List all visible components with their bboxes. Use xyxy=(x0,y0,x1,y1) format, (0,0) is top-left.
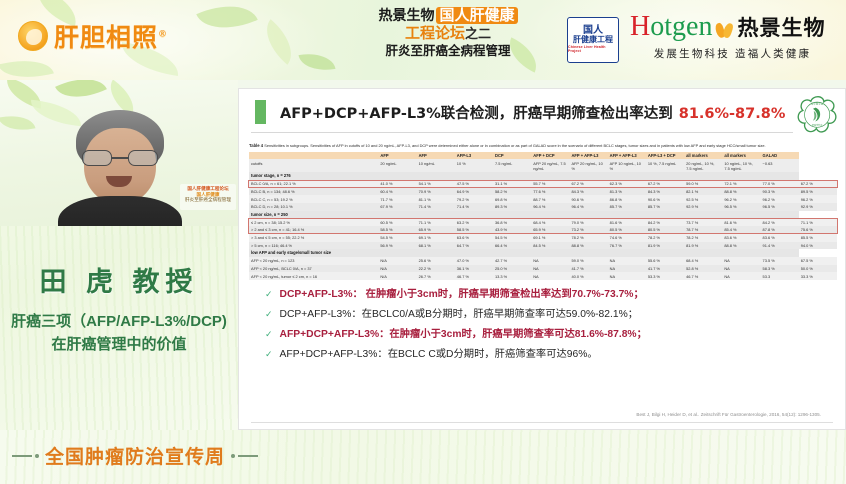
bullet-text: DCP+AFP-L3%：在BCLC0/A或B分期时，肝癌早期筛查率可达59.0%… xyxy=(280,308,638,321)
bottom-banner-label: 全国肿瘤防治宣传周 xyxy=(45,442,225,469)
table-cell: 96.2 % xyxy=(761,195,799,203)
hotgen-slogan: 发展生物科技 造福人类健康 xyxy=(630,46,835,61)
forum-title-line1: 热景生物国人肝健康 xyxy=(348,8,548,24)
table-row-label: BCLC D, n = 28; 10.1 % xyxy=(249,203,378,211)
table-cell: 68.1 % xyxy=(417,242,455,250)
speaker-topic: 肝癌三项（AFP/AFP-L3%/DCP) 在肝癌管理中的价值 xyxy=(0,311,238,356)
table-cell: 10 %, 7.5 ng/mL xyxy=(646,159,684,172)
bullet-text-normal: 时，肝癌早期筛查率可达 xyxy=(462,329,575,340)
table-cell: 81.9 % xyxy=(646,242,684,250)
table-cell: 58.5 % xyxy=(378,226,416,234)
speaker-info-card: 田 虎 教授 肝癌三项（AFP/AFP-L3%/DCP) 在肝癌管理中的价值 xyxy=(0,226,238,430)
table-cell: 10 % xyxy=(455,159,493,172)
dash-bar xyxy=(238,455,258,457)
forum-title-line3: 肝炎至肝癌全病程管理 xyxy=(348,45,548,59)
table-cell: 77.0 % xyxy=(761,180,799,188)
table-cell: 81.9 % xyxy=(684,242,722,250)
video-corner-watermark: 国人肝健康工程论坛 国人肝健康 肝炎至肝癌全病程管理 xyxy=(180,184,236,210)
table-cell: 84.2 % xyxy=(646,219,684,227)
table-cell: 78.2 % xyxy=(646,234,684,242)
table-row-label: BCLC 0/A, n = 61; 22.1 % xyxy=(249,180,378,188)
table-column-header: AFP xyxy=(378,152,416,160)
butterfly-icon xyxy=(716,22,732,39)
table-column-header: AFP + DCP xyxy=(531,152,569,160)
table-cell: 64.7 % xyxy=(455,242,493,250)
table-column-header: all markers xyxy=(722,152,760,160)
forum-title-highlight: 国人肝健康 xyxy=(436,7,517,24)
table-cell: 67.2 % xyxy=(799,180,837,188)
glasses-lens-left xyxy=(82,150,112,166)
table-cell: 41.7 % xyxy=(646,265,684,273)
top-banner: 肝胆相照® 热景生物国人肝健康 工程论坛之二 肝炎至肝癌全病程管理 国人 肝健康… xyxy=(0,0,846,80)
check-icon: ✓ xyxy=(265,310,273,319)
table-cell: 72.1 % xyxy=(722,180,760,188)
liver-seal-icon xyxy=(18,21,48,51)
table-row: BCLC C, n = 53; 19.2 %71.7 %81.1 %79.2 %… xyxy=(249,195,837,203)
table-caption: Table 4 Sensitivities in subgroups. Sens… xyxy=(249,143,837,150)
bullet-text: AFP+DCP+AFP-L3%：在肿瘤小于3cm时，肝癌早期筛查率可达81.6%… xyxy=(280,328,647,341)
table-cell: 78.7 % xyxy=(684,226,722,234)
leaf-decoration xyxy=(0,111,35,136)
table-cell: 79.0 % xyxy=(569,219,607,227)
table-cell: 40.0 % xyxy=(569,272,607,280)
portrait-face xyxy=(84,128,156,204)
check-icon: ✓ xyxy=(265,330,273,339)
table-row: BCLC D, n = 28; 10.1 %67.9 %71.4 %71.4 %… xyxy=(249,203,837,211)
table-cell: 79.2 % xyxy=(455,195,493,203)
table-cell: 36.8 % xyxy=(493,219,531,227)
table-cell: 94.0 % xyxy=(799,242,837,250)
svg-text:中华医学会: 中华医学会 xyxy=(811,102,824,106)
table-cell: 46.7 % xyxy=(455,272,493,280)
table-row: AFP < 20 ng/mL, BCLC 0/A, n = 37N/A22.2 … xyxy=(249,265,837,273)
table-cell: 67.2 % xyxy=(569,180,607,188)
table-row-label: ≤ 2 cm, n = 38; 15.2 % xyxy=(249,219,378,227)
bullet-text-normal: ： 在肿瘤 xyxy=(353,289,397,300)
table-cell: 77.6 % xyxy=(531,188,569,196)
table-cell: 88.8 % xyxy=(722,242,760,250)
portrait-body xyxy=(58,196,182,226)
table-cell: 47.0 % xyxy=(455,257,493,265)
table-section-label: tumor stage, n = 276 xyxy=(249,172,799,180)
table-cell: 84.3 % xyxy=(646,188,684,196)
forum-title-block: 热景生物国人肝健康 工程论坛之二 肝炎至肝癌全病程管理 xyxy=(348,8,548,59)
watermark-line1: 国人肝健康工程论坛 xyxy=(182,186,234,192)
glasses-icon xyxy=(82,150,158,166)
table-row-label: > 2 and ≤ 3 cm, n = 41; 16.4 % xyxy=(249,226,378,234)
table-cell: 33.3 % xyxy=(799,272,837,280)
table-head: AFPAFPAFP-L3DCPAFP + DCPAFP + AFP-L3AFP … xyxy=(249,152,837,160)
table-row: > 2 and ≤ 3 cm, n = 41; 16.4 %58.5 %65.9… xyxy=(249,226,837,234)
bullet-text-strong: 81.6%-87.8% xyxy=(575,329,637,340)
table-cell: 96.4 % xyxy=(531,203,569,211)
table-cell: 70.9 % xyxy=(417,188,455,196)
table-cell: 81.3 % xyxy=(608,188,646,196)
table-cell: 73.2 % xyxy=(569,226,607,234)
check-icon: ✓ xyxy=(265,350,273,359)
leaf-decoration xyxy=(55,80,107,109)
table-cell: NA xyxy=(608,257,646,265)
table-column-header xyxy=(249,152,378,160)
leaf-decoration xyxy=(255,19,303,64)
table-section-label: low AFP and early stage/small tumor size xyxy=(249,249,799,257)
table-cell: 71.7 % xyxy=(378,195,416,203)
table-cell: 88.7 % xyxy=(531,195,569,203)
bottom-banner-inner: 全国肿瘤防治宣传周 xyxy=(12,442,258,469)
table-cell: 92.5 % xyxy=(684,195,722,203)
table-cell: NA xyxy=(531,257,569,265)
table-cell: 54.1 % xyxy=(417,180,455,188)
table-cell: 71.4 % xyxy=(417,203,455,211)
table-column-header: AFP-L3 xyxy=(455,152,493,160)
table-cell: 88.8 % xyxy=(569,242,607,250)
citation-text: Best J, Bilgi H, Heider D, et al.. Zeits… xyxy=(239,412,835,417)
table-column-header: GALAD xyxy=(761,152,799,160)
hotgen-wordmark: Hotgen xyxy=(630,13,712,41)
table-cell: 82.1 % xyxy=(684,188,722,196)
table-cell: AFP 20 ng/mL, 10 % xyxy=(569,159,607,172)
leaf-decoration xyxy=(196,0,258,42)
table-cell: 74.6 % xyxy=(608,234,646,242)
glasses-lens-right xyxy=(128,150,158,166)
institution-seal-icon: 中华医学会 肝病学分会 xyxy=(797,95,839,137)
table-cell: 67.2 % xyxy=(646,180,684,188)
table-row-label: > 3 and ≤ 5 cm, n = 55; 22.2 % xyxy=(249,234,378,242)
table-cell: cutoffs xyxy=(249,159,378,172)
table-header-row: AFPAFPAFP-L3DCPAFP + DCPAFP + AFP-L3AFP … xyxy=(249,152,837,160)
hotgen-wordmark-row: Hotgen 热景生物 xyxy=(630,12,835,42)
table-row: BCLC 0/A, n = 61; 22.1 %41.0 %54.1 %47.5… xyxy=(249,180,837,188)
table-body: cutoffs20 ng/mL10 ng/mL10 %7.5 ng/mLAFP … xyxy=(249,159,837,280)
table-cell: 96.2 % xyxy=(722,195,760,203)
table-cell: 54.5 % xyxy=(378,234,416,242)
table-cell: 31.1 % xyxy=(493,180,531,188)
bullet-text: DCP+AFP-L3%： 在肿瘤小于3cm时，肝癌早期筛查检出率达到70.7%-… xyxy=(280,288,644,301)
table-cell: 64.9 % xyxy=(455,188,493,196)
table-cell: AFP 10 ng/mL, 10 % xyxy=(608,159,646,172)
table-cell: 69.1 % xyxy=(531,234,569,242)
table-cell: 96.5 % xyxy=(761,203,799,211)
speaker-panel: 国人肝健康工程论坛 国人肝健康 肝炎至肝癌全病程管理 田 虎 教授 肝癌三项（A… xyxy=(0,80,238,430)
table-cell: 78.2 % xyxy=(684,234,722,242)
table-cell: 41.0 % xyxy=(378,180,416,188)
brand-logo-gandanxiangzhao: 肝胆相照® xyxy=(18,18,168,54)
table-cell: 67.5 % xyxy=(799,257,837,265)
table-caption-text: Sensitivities in subgroups. Sensitivitie… xyxy=(264,143,765,148)
slide-title: AFP+DCP+AFP-L3%联合检测，肝癌早期筛查检出率达到81.6%-87.… xyxy=(280,102,785,123)
table-cell: 75.6 % xyxy=(799,226,837,234)
brand-left-label: 肝胆相照® xyxy=(54,18,168,54)
header-divider xyxy=(251,132,793,133)
table-cell: 63.2 % xyxy=(455,219,493,227)
presentation-slide[interactable]: AFP+DCP+AFP-L3%联合检测，肝癌早期筛查检出率达到81.6%-87.… xyxy=(238,88,846,430)
watermark-line3: 肝炎至肝癌全病程管理 xyxy=(182,197,234,203)
table-cell: NA xyxy=(608,265,646,273)
table-cell: 96.5 % xyxy=(722,203,760,211)
table-cell: 84.3 % xyxy=(569,188,607,196)
table-cell: N/A xyxy=(378,257,416,265)
table-row-label: > 5 cm, n = 116; 46.4 % xyxy=(249,242,378,250)
table-cell: 7.5 ng/mL xyxy=(493,159,531,172)
table-cell: 81.6 % xyxy=(608,219,646,227)
table-cell: 60.4 % xyxy=(378,188,416,196)
table-cell: 96.2 % xyxy=(799,195,837,203)
table-cell: 66.4 % xyxy=(493,242,531,250)
table-column-header: DCP xyxy=(493,152,531,160)
table-row: > 3 and ≤ 5 cm, n = 55; 22.2 %54.5 %69.1… xyxy=(249,234,837,242)
table-cell: 55.7 % xyxy=(531,180,569,188)
speaker-name: 田 虎 教授 xyxy=(0,260,238,299)
table-cell: 46.7 % xyxy=(684,272,722,280)
table-cell: 80.5 % xyxy=(608,226,646,234)
table-cell: 83.6 % xyxy=(722,234,760,242)
bullet-text-strong: 小于3cm xyxy=(397,289,438,300)
table-cell: 54.5 % xyxy=(493,234,531,242)
forum-title-line2: 工程论坛之二 xyxy=(348,26,548,42)
table-cell: 10 ng/mL xyxy=(417,159,455,172)
table-section-label: tumor size, n = 250 xyxy=(249,211,799,219)
table-cell: 58.3 % xyxy=(761,265,799,273)
table-cell: 25.0 % xyxy=(493,265,531,273)
table-row: AFP < 20 ng/mL, tumor ≤ 2 cm, n = 16N/A2… xyxy=(249,272,837,280)
speaker-portrait xyxy=(62,110,178,226)
table-cell: 13.3 % xyxy=(493,272,531,280)
table-cell: 81.6 % xyxy=(722,219,760,227)
table-row: BCLC B, n = 134; 48.6 %60.4 %70.9 %64.9 … xyxy=(249,188,837,196)
decorative-dash-left xyxy=(12,454,39,458)
bullet-text-normal: DCP+AFP-L3%：在BCLC0/A或B分期时，肝癌早期筛查率可达59.0%… xyxy=(280,309,638,320)
decorative-dash-right xyxy=(231,454,258,458)
table-cell: 55.6 % xyxy=(646,257,684,265)
nlhp-line2: 肝健康工程 xyxy=(573,36,613,45)
table-cell: 58.5 % xyxy=(455,226,493,234)
table-column-header: AFP + AFP-L3 xyxy=(569,152,607,160)
bullet-text: AFP+DCP+AFP-L3%：在BCLC C或D分期时，肝癌筛查率可达96%。 xyxy=(280,348,598,361)
conclusion-bullet-list: ✓DCP+AFP-L3%： 在肿瘤小于3cm时，肝癌早期筛查检出率达到70.7%… xyxy=(265,288,845,361)
bullet-text-normal: 时，肝癌早期筛查检出率达到 xyxy=(438,289,572,300)
table-cell: 69.8 % xyxy=(493,195,531,203)
table-cell: 65.9 % xyxy=(417,226,455,234)
table-section-header: low AFP and early stage/small tumor size xyxy=(249,249,837,257)
table-cell: 42.7 % xyxy=(493,257,531,265)
bullet-text-normal: AFP+DCP+AFP-L3%：在BCLC C或D分期时，肝癌筛查率可达96%。 xyxy=(280,349,598,360)
table-cell: 89.5 % xyxy=(799,188,837,196)
table-cell: 87.8 % xyxy=(761,226,799,234)
table-caption-label: Table 4 xyxy=(249,143,263,148)
table-cell: 71.4 % xyxy=(455,203,493,211)
citation-divider xyxy=(251,422,833,423)
table-cell: NA xyxy=(722,272,760,280)
table-cell: 63.6 % xyxy=(455,234,493,242)
table-cell: 84.2 % xyxy=(761,219,799,227)
bullet-text-normal: ； xyxy=(637,329,647,340)
table-row-label: AFP < 20 ng/mL, BCLC 0/A, n = 37 xyxy=(249,265,378,273)
table-cell: 60.5 % xyxy=(378,219,416,227)
table-cell: −0.63 xyxy=(761,159,799,172)
national-liver-health-project-logo: 国人 肝健康工程 Chinese Liver Health Project xyxy=(567,17,619,63)
table-cell: 26.7 % xyxy=(417,272,455,280)
slide-header: AFP+DCP+AFP-L3%联合检测，肝癌早期筛查检出率达到81.6%-87.… xyxy=(239,89,845,135)
slide-title-percentage: 81.6%-87.8% xyxy=(679,106,786,122)
table-cell: 52.8 % xyxy=(684,265,722,273)
table-column-header: AFP xyxy=(417,152,455,160)
table-cell: 71.1 % xyxy=(799,219,837,227)
table-row-label: BCLC C, n = 53; 19.2 % xyxy=(249,195,378,203)
table-cell: 69.1 % xyxy=(417,234,455,242)
table-cell: NA xyxy=(608,272,646,280)
table-column-header: AFP-L3 + DCP xyxy=(646,152,684,160)
sensitivity-table: AFPAFPAFP-L3DCPAFP + DCPAFP + AFP-L3AFP … xyxy=(249,152,837,281)
table-column-header: all markers xyxy=(684,152,722,160)
table-cell: 78.2 % xyxy=(569,234,607,242)
svg-text:肝病学分会: 肝病学分会 xyxy=(812,123,822,127)
table-cell: 73.5 % xyxy=(761,257,799,265)
table-cell: 53.3 xyxy=(761,272,799,280)
table-cell: 58.2 % xyxy=(493,188,531,196)
table-cell: 89.3 % xyxy=(493,203,531,211)
table-cell: 96.4 % xyxy=(569,203,607,211)
table-cell: NA xyxy=(531,265,569,273)
speaker-topic-line2: 在肝癌管理中的价值 xyxy=(4,334,234,357)
table-cell: 59.0 % xyxy=(684,180,722,188)
table-cell: 86.8 % xyxy=(608,195,646,203)
bullet-text-normal: ； xyxy=(633,289,643,300)
glasses-bridge xyxy=(112,157,128,159)
table-cell: 50.0 % xyxy=(799,265,837,273)
table-cell: 90.6 % xyxy=(569,195,607,203)
table-cell: 83.6 % xyxy=(761,234,799,242)
table-cell: 90.6 % xyxy=(646,195,684,203)
bullet-text-strong: DCP+AFP-L3% xyxy=(280,289,353,300)
hotgen-brand-block: Hotgen 热景生物 发展生物科技 造福人类健康 xyxy=(630,12,835,61)
table-cell: 81.1 % xyxy=(417,195,455,203)
table-cell: 85.7 % xyxy=(646,203,684,211)
table-cell: 59.0 % xyxy=(569,257,607,265)
table-row: AFP < 20 ng/mL, n = 123N/A25.6 %47.0 %42… xyxy=(249,257,837,265)
check-icon: ✓ xyxy=(265,290,273,299)
table-cell: 20 ng/mL, 10 %, 7.5 ng/mL xyxy=(684,159,722,172)
table-cell: 68.4 % xyxy=(684,257,722,265)
table-cell: 92.9 % xyxy=(799,203,837,211)
table-row-cutoffs: cutoffs20 ng/mL10 ng/mL10 %7.5 ng/mLAFP … xyxy=(249,159,837,172)
leaf-decoration xyxy=(299,49,336,75)
nlhp-line3: Chinese Liver Health Project xyxy=(568,45,618,54)
table-row: > 5 cm, n = 116; 46.4 %56.9 %68.1 %64.7 … xyxy=(249,242,837,250)
dash-dot xyxy=(35,454,39,458)
table-cell: 91.4 % xyxy=(761,242,799,250)
table-row-label: AFP < 20 ng/mL, tumor ≤ 2 cm, n = 16 xyxy=(249,272,378,280)
table-cell: 85.5 % xyxy=(799,234,837,242)
table-cell: 65.9 % xyxy=(531,226,569,234)
table-cell: 85.7 % xyxy=(608,203,646,211)
table-cell: 73.7 % xyxy=(684,219,722,227)
bullet-item: ✓AFP+DCP+AFP-L3%：在肿瘤小于3cm时，肝癌早期筛查率可达81.6… xyxy=(265,328,845,341)
bullet-text-strong: 70.7%-73.7% xyxy=(572,289,634,300)
registered-mark: ® xyxy=(158,30,168,40)
table-cell: 90.3 % xyxy=(761,188,799,196)
table-cell: 53.3 % xyxy=(646,272,684,280)
table-cell: NA xyxy=(722,257,760,265)
table-cell: 92.9 % xyxy=(684,203,722,211)
table-cell: 41.7 % xyxy=(569,265,607,273)
table-cell: 20 ng/mL xyxy=(378,159,416,172)
table-cell: 22.2 % xyxy=(417,265,455,273)
table-cell: NA xyxy=(531,272,569,280)
table-cell: 76.7 % xyxy=(608,242,646,250)
bottom-banner: 全国肿瘤防治宣传周 xyxy=(0,430,846,484)
table-cell: 67.9 % xyxy=(378,203,416,211)
speaker-topic-line1: 肝癌三项（AFP/AFP-L3%/DCP) xyxy=(4,311,234,334)
table-row-label: AFP < 20 ng/mL, n = 123 xyxy=(249,257,378,265)
table-cell: AFP 20 ng/mL, 7.5 ng/mL xyxy=(531,159,569,172)
bullet-text-strong: AFP+DCP+AFP-L3% xyxy=(280,329,380,340)
table-cell: N/A xyxy=(378,265,416,273)
speaker-video-tile[interactable]: 国人肝健康工程论坛 国人肝健康 肝炎至肝癌全病程管理 xyxy=(0,80,238,226)
table-cell: 25.6 % xyxy=(417,257,455,265)
table-cell: 47.5 % xyxy=(455,180,493,188)
table-cell: 43.9 % xyxy=(493,226,531,234)
table-row: ≤ 2 cm, n = 38; 15.2 %60.5 %71.1 %63.2 %… xyxy=(249,219,837,227)
dash-bar xyxy=(12,455,32,457)
bullet-item: ✓DCP+AFP-L3%：在BCLC0/A或B分期时，肝癌早期筛查率可达59.0… xyxy=(265,308,845,321)
bullet-item: ✓DCP+AFP-L3%： 在肿瘤小于3cm时，肝癌早期筛查检出率达到70.7%… xyxy=(265,288,845,301)
table-cell: 80.5 % xyxy=(646,226,684,234)
table-cell: 36.1 % xyxy=(455,265,493,273)
table-section-header: tumor stage, n = 276 xyxy=(249,172,837,180)
table-cell: 10 ng/mL, 10 %, 7.5 ng/mL xyxy=(722,159,760,172)
bullet-text-strong: 小于3cm xyxy=(420,329,461,340)
table-cell: 62.3 % xyxy=(608,180,646,188)
table-column-header: AFP + AFP-L3 xyxy=(608,152,646,160)
table-cell: N/A xyxy=(378,272,416,280)
dash-dot xyxy=(231,454,235,458)
bullet-item: ✓AFP+DCP+AFP-L3%：在BCLC C或D分期时，肝癌筛查率可达96%… xyxy=(265,348,845,361)
table-cell: 88.8 % xyxy=(722,188,760,196)
table-cell: NA xyxy=(722,265,760,273)
table-row-label: BCLC B, n = 134; 48.6 % xyxy=(249,188,378,196)
table-section-header: tumor size, n = 250 xyxy=(249,211,837,219)
table-cell: 84.5 % xyxy=(531,242,569,250)
table-cell: 56.9 % xyxy=(378,242,416,250)
table-cell: 68.4 % xyxy=(531,219,569,227)
sensitivity-table-container: Table 4 Sensitivities in subgroups. Sens… xyxy=(249,143,837,280)
table-cell: 85.4 % xyxy=(722,226,760,234)
slide-accent-bar xyxy=(255,100,266,124)
table-cell: 71.1 % xyxy=(417,219,455,227)
forum-title-line2-sub: 之二 xyxy=(465,26,491,41)
hotgen-chinese-name: 热景生物 xyxy=(737,12,825,42)
leaf-decoration xyxy=(0,52,54,80)
bullet-text-normal: ：在肿瘤 xyxy=(379,329,420,340)
